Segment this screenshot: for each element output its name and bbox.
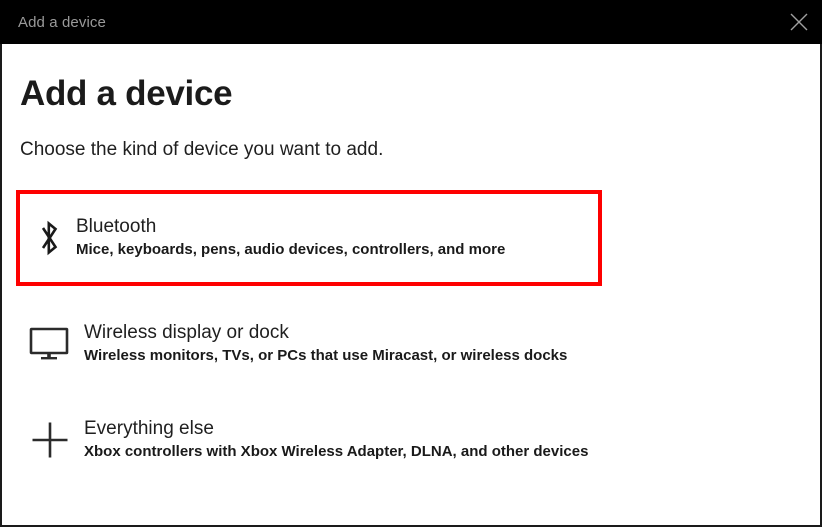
bluetooth-description: Mice, keyboards, pens, audio devices, co… bbox=[76, 239, 598, 261]
wireless-display-text: Wireless display or dock Wireless monito… bbox=[84, 321, 820, 367]
page-subtitle: Choose the kind of device you want to ad… bbox=[20, 139, 383, 161]
everything-else-title: Everything else bbox=[84, 417, 820, 441]
list-gap bbox=[2, 382, 820, 402]
wireless-display-title: Wireless display or dock bbox=[84, 321, 820, 345]
bluetooth-icon bbox=[22, 216, 76, 260]
window-caption: Add a device bbox=[18, 14, 106, 31]
everything-else-option[interactable]: Everything else Xbox controllers with Xb… bbox=[2, 402, 820, 478]
close-icon bbox=[788, 11, 810, 33]
page-title: Add a device bbox=[20, 74, 232, 114]
wireless-display-option[interactable]: Wireless display or dock Wireless monito… bbox=[2, 306, 820, 382]
plus-icon bbox=[16, 419, 84, 461]
bluetooth-title: Bluetooth bbox=[76, 215, 598, 239]
bluetooth-text: Bluetooth Mice, keyboards, pens, audio d… bbox=[76, 215, 598, 261]
list-gap bbox=[2, 286, 820, 306]
everything-else-description: Xbox controllers with Xbox Wireless Adap… bbox=[84, 441, 820, 463]
device-type-list: Bluetooth Mice, keyboards, pens, audio d… bbox=[2, 190, 820, 478]
everything-else-text: Everything else Xbox controllers with Xb… bbox=[84, 417, 820, 463]
bluetooth-option[interactable]: Bluetooth Mice, keyboards, pens, audio d… bbox=[16, 190, 602, 286]
window-titlebar: Add a device bbox=[0, 0, 822, 44]
wireless-display-description: Wireless monitors, TVs, or PCs that use … bbox=[84, 345, 820, 367]
dialog-content: Add a device Choose the kind of device y… bbox=[0, 44, 822, 527]
close-button[interactable] bbox=[776, 0, 822, 44]
add-a-device-dialog: Add a device Add a device Choose the kin… bbox=[0, 0, 822, 527]
monitor-icon bbox=[16, 327, 84, 361]
